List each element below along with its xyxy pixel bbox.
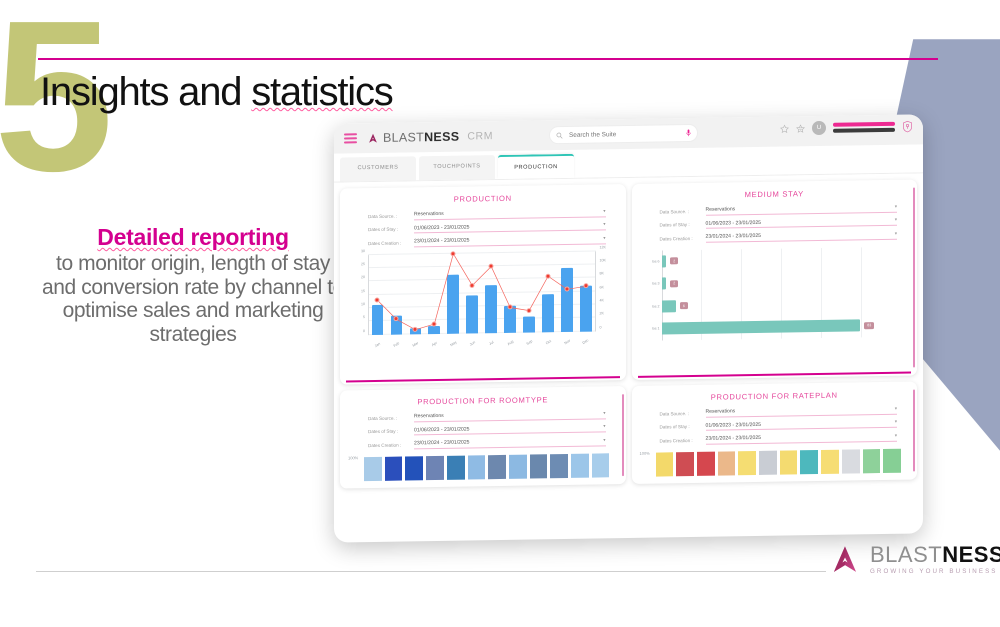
filter-dates-creation[interactable]: Dates Creation : 23/01/2024 - 23/01/2025… bbox=[368, 437, 606, 449]
bar-column bbox=[364, 456, 382, 480]
filter-label: Dates of Stay : bbox=[368, 429, 414, 435]
bar-column bbox=[426, 455, 444, 479]
y-tick-left: 20 bbox=[350, 275, 365, 279]
bar-segment bbox=[842, 449, 860, 473]
filter-dates-of-stay[interactable]: Dates of Stay : 01/06/2023 - 23/01/2025 … bbox=[368, 222, 606, 234]
bar-segment bbox=[656, 452, 674, 476]
bar-column bbox=[550, 453, 568, 477]
filter-dates-creation[interactable]: Dates Creation : 23/01/2024 - 23/01/2025… bbox=[660, 433, 898, 445]
panel-title: MEDIUM STAY bbox=[638, 188, 912, 201]
panel-title: PRODUCTION FOR RATEPLAN bbox=[638, 390, 912, 403]
bar bbox=[662, 278, 667, 290]
filter-value: 23/01/2024 - 23/01/2025 bbox=[706, 435, 762, 442]
filter-label: Data Source. : bbox=[660, 209, 706, 215]
rateplan-chart: 100% bbox=[638, 446, 912, 476]
brand-tagline: GROWING YOUR BUSINESS bbox=[870, 569, 1000, 575]
chart-x-labels: JanFebMarAprMayJunJulAugSepOctNovDec bbox=[368, 339, 596, 347]
chevron-down-icon: ▾ bbox=[603, 209, 605, 214]
star-outline-icon[interactable] bbox=[780, 124, 789, 133]
panel-side-rule bbox=[913, 389, 915, 471]
filter-value: 23/01/2024 - 23/01/2025 bbox=[414, 439, 470, 446]
filter-data-source[interactable]: Data Source. : Reservations ▾ bbox=[368, 208, 606, 220]
chevron-down-icon: ▾ bbox=[603, 425, 605, 430]
bar-value-badge: 2 bbox=[670, 257, 678, 264]
chart-plot-area: los 62los 32los 26los 183 bbox=[662, 246, 902, 340]
filter-dates-of-stay[interactable]: Dates of Stay : 01/06/2023 - 23/01/2025 … bbox=[660, 217, 898, 229]
tab-production[interactable]: PRODUCTION bbox=[498, 154, 574, 179]
x-tick-label: Oct bbox=[539, 335, 557, 349]
filter-control[interactable]: Reservations ▾ bbox=[414, 208, 606, 220]
filter-label: Dates of Stay : bbox=[660, 424, 706, 430]
y-tick-left: 5 bbox=[350, 315, 365, 319]
line-marker bbox=[546, 273, 551, 278]
bar-segment bbox=[385, 456, 403, 480]
filter-value: Reservations bbox=[706, 408, 736, 414]
panel-accent-rule bbox=[346, 377, 620, 383]
bar-column bbox=[780, 450, 798, 474]
bar-segment bbox=[447, 455, 465, 479]
filter-control[interactable]: 01/06/2023 - 23/01/2025 ▾ bbox=[706, 419, 898, 431]
brand-name-bold: NESS bbox=[942, 542, 1000, 567]
filter-value: 23/01/2024 - 23/01/2025 bbox=[414, 237, 470, 244]
bar-column bbox=[697, 451, 715, 475]
filter-control[interactable]: 01/06/2023 - 23/01/2025 ▾ bbox=[706, 217, 898, 229]
x-tick-label: Dec bbox=[577, 334, 595, 348]
bar-segment bbox=[821, 449, 839, 473]
y-tick-left: 10 bbox=[350, 302, 365, 306]
chevron-down-icon: ▾ bbox=[895, 218, 897, 223]
bar-segment bbox=[468, 455, 486, 479]
app-logo-light: BLAST bbox=[383, 130, 424, 145]
line-marker bbox=[451, 251, 456, 256]
user-name-redacted bbox=[833, 122, 895, 133]
filter-label: Dates Creation : bbox=[368, 240, 414, 246]
filter-dates-creation[interactable]: Dates Creation : 23/01/2024 - 23/01/2025… bbox=[368, 235, 606, 247]
filter-data-source[interactable]: Data Source. : Reservations ▾ bbox=[660, 406, 898, 418]
app-product-label: CRM bbox=[467, 130, 493, 142]
bar-column bbox=[676, 451, 694, 475]
bar-column bbox=[468, 455, 486, 479]
y-tick-label: los 3 bbox=[642, 282, 660, 286]
filter-dates-creation[interactable]: Dates Creation : 23/01/2024 - 23/01/2025… bbox=[660, 231, 898, 243]
blastness-triangle-icon bbox=[828, 545, 862, 575]
x-tick-label: Nov bbox=[558, 335, 576, 349]
line-marker bbox=[584, 283, 589, 288]
bar-segment bbox=[530, 454, 548, 478]
x-tick-label: May bbox=[444, 336, 462, 350]
page-title: Insights and statistics bbox=[40, 70, 393, 115]
line-marker bbox=[375, 297, 380, 302]
filter-control[interactable]: 23/01/2024 - 23/01/2025 ▾ bbox=[706, 433, 898, 445]
filters: Data Source. : Reservations ▾ Dates of S… bbox=[638, 406, 912, 446]
bar-column bbox=[821, 449, 839, 473]
chevron-down-icon: ▾ bbox=[895, 420, 897, 425]
bar-segment bbox=[364, 456, 382, 480]
bar-segment bbox=[718, 451, 736, 475]
search-input[interactable] bbox=[567, 129, 682, 140]
y-tick-label: los 1 bbox=[642, 327, 660, 331]
bar-segment bbox=[697, 451, 715, 475]
bar-column bbox=[718, 451, 736, 475]
filter-value: Reservations bbox=[706, 206, 736, 212]
y-tick-left: 30 bbox=[350, 249, 365, 253]
filter-label: Dates Creation : bbox=[660, 438, 706, 444]
chevron-down-icon: ▾ bbox=[895, 204, 897, 209]
tab-touchpoints[interactable]: TOUCHPOINTS bbox=[419, 155, 495, 180]
x-tick-label: Mar bbox=[406, 337, 424, 351]
filter-value: Reservations bbox=[414, 211, 444, 217]
topbar-actions: U bbox=[780, 120, 913, 136]
brand-name-light: BLAST bbox=[870, 542, 942, 567]
x-tick-label: Feb bbox=[387, 337, 405, 351]
footer-brand: BLASTNESS GROWING YOUR BUSINESS bbox=[828, 544, 1000, 575]
filter-control[interactable]: Reservations ▾ bbox=[706, 204, 898, 216]
avatar[interactable]: U bbox=[812, 121, 826, 135]
bar-column bbox=[759, 450, 777, 474]
filter-dates-of-stay[interactable]: Dates of Stay : 01/06/2023 - 23/01/2025 … bbox=[368, 424, 606, 436]
bar-value-badge: 6 bbox=[680, 302, 688, 309]
app-logo: BLASTNESS CRM bbox=[367, 129, 493, 145]
filter-control[interactable]: 23/01/2024 - 23/01/2025 ▾ bbox=[414, 235, 606, 247]
bar-value-badge: 83 bbox=[864, 322, 874, 329]
panel-title: PRODUCTION FOR ROOMTYPE bbox=[346, 394, 620, 407]
panel-accent-rule bbox=[638, 372, 912, 378]
line-markers bbox=[368, 251, 596, 335]
filter-control[interactable]: Reservations ▾ bbox=[414, 410, 606, 422]
filters: Data Source. : Reservations ▾ Dates of S… bbox=[346, 410, 620, 450]
panel-production-roomtype: PRODUCTION FOR ROOMTYPE Data Source. : R… bbox=[340, 386, 626, 488]
chart-plot-area bbox=[368, 251, 596, 335]
y-tick-left: 0 bbox=[350, 329, 365, 333]
line-marker bbox=[489, 263, 494, 268]
chart-plot-area bbox=[364, 453, 610, 481]
y-tick-right: 2K bbox=[600, 311, 616, 315]
bar-column bbox=[385, 456, 403, 480]
panel-side-rule bbox=[913, 187, 915, 367]
bar bbox=[662, 255, 667, 267]
line-marker bbox=[565, 286, 570, 291]
filter-value: 01/06/2023 - 23/01/2025 bbox=[706, 421, 762, 428]
bar-column bbox=[530, 454, 548, 478]
bar-column bbox=[447, 455, 465, 479]
x-tick-label: Jun bbox=[463, 336, 481, 350]
filter-data-source[interactable]: Data Source. : Reservations ▾ bbox=[660, 204, 898, 216]
bar bbox=[662, 300, 676, 312]
filters: Data Source. : Reservations ▾ Dates of S… bbox=[346, 208, 620, 248]
chevron-down-icon: ▾ bbox=[895, 406, 897, 411]
filter-value: 01/06/2023 - 23/01/2025 bbox=[414, 224, 470, 231]
panel-production-rateplan: PRODUCTION FOR RATEPLAN Data Source. : R… bbox=[632, 381, 918, 483]
microphone-icon[interactable] bbox=[686, 129, 691, 137]
copy-lead: Detailed reporting bbox=[38, 224, 348, 250]
bar-column bbox=[592, 453, 610, 477]
chart-plot-area bbox=[656, 448, 902, 476]
filter-label: Dates of Stay : bbox=[660, 222, 706, 228]
search-bar[interactable] bbox=[549, 124, 698, 144]
bar-column bbox=[571, 453, 589, 477]
bar-segment bbox=[738, 450, 756, 474]
brand-name: BLASTNESS bbox=[870, 544, 1000, 566]
blastness-triangle-icon bbox=[367, 132, 379, 143]
y-tick-right: 12K bbox=[600, 245, 616, 249]
bar-column bbox=[863, 449, 881, 473]
bar-column bbox=[405, 456, 423, 480]
footer-divider bbox=[36, 571, 826, 572]
app-logo-text: BLASTNESS bbox=[383, 130, 459, 145]
bar-segment bbox=[759, 450, 777, 474]
bar-column bbox=[656, 452, 674, 476]
y-tick-right: 8K bbox=[600, 271, 616, 275]
bar-column bbox=[509, 454, 527, 478]
bar-column bbox=[738, 450, 756, 474]
app-logo-bold: NESS bbox=[424, 130, 459, 145]
filter-value: Reservations bbox=[414, 413, 444, 419]
bar-column bbox=[800, 450, 818, 474]
roomtype-chart: 100% bbox=[346, 451, 620, 481]
star-lines-icon[interactable] bbox=[796, 124, 805, 133]
filter-label: Data Source. : bbox=[368, 213, 414, 219]
filter-control[interactable]: 23/01/2024 - 23/01/2025 ▾ bbox=[414, 437, 606, 449]
y-tick-right: 4K bbox=[600, 298, 616, 302]
bar bbox=[662, 320, 861, 335]
filter-label: Dates Creation : bbox=[368, 442, 414, 448]
filter-control[interactable]: Reservations ▾ bbox=[706, 406, 898, 418]
x-tick-label: Aug bbox=[501, 336, 519, 350]
filter-label: Dates of Stay : bbox=[368, 227, 414, 233]
bar-column bbox=[842, 449, 860, 473]
chevron-down-icon: ▾ bbox=[603, 236, 605, 241]
y-tick-label: los 2 bbox=[642, 304, 660, 308]
hamburger-icon[interactable] bbox=[344, 133, 357, 143]
y-tick-right: 0 bbox=[600, 325, 616, 329]
shield-key-icon[interactable] bbox=[902, 121, 913, 133]
page-title-emphasis: statistics bbox=[251, 70, 392, 114]
y-tick-left: 15 bbox=[350, 289, 365, 293]
filter-value: 01/06/2023 - 23/01/2025 bbox=[414, 426, 470, 433]
bar-value-badge: 2 bbox=[670, 280, 678, 287]
filter-label: Dates Creation : bbox=[660, 236, 706, 242]
y-tick-label: los 6 bbox=[642, 259, 660, 263]
chevron-down-icon: ▾ bbox=[603, 438, 605, 443]
bar-row: los 183 bbox=[662, 314, 902, 340]
filters: Data Source. : Reservations ▾ Dates of S… bbox=[638, 204, 912, 244]
bar-segment bbox=[426, 455, 444, 479]
filter-value: 23/01/2024 - 23/01/2025 bbox=[706, 233, 762, 240]
filter-dates-of-stay[interactable]: Dates of Stay : 01/06/2023 - 23/01/2025 … bbox=[660, 419, 898, 431]
line-marker bbox=[413, 327, 418, 332]
line-marker bbox=[508, 304, 513, 309]
bar-column bbox=[488, 454, 506, 478]
search-icon bbox=[556, 132, 563, 139]
page-title-plain: Insights and bbox=[40, 70, 251, 114]
panel-production: PRODUCTION Data Source. : Reservations ▾… bbox=[340, 184, 626, 384]
filter-value: 01/06/2023 - 23/01/2025 bbox=[706, 219, 762, 226]
y-tick-left: 25 bbox=[350, 262, 365, 266]
dashboard-grid: PRODUCTION Data Source. : Reservations ▾… bbox=[334, 173, 923, 494]
filter-data-source[interactable]: Data Source. : Reservations ▾ bbox=[368, 410, 606, 422]
title-rule bbox=[38, 58, 938, 60]
chevron-down-icon: ▾ bbox=[603, 411, 605, 416]
bar-segment bbox=[550, 453, 568, 477]
panel-title: PRODUCTION bbox=[346, 192, 620, 205]
chart-y-label: 100% bbox=[640, 450, 650, 455]
bar-segment bbox=[780, 450, 798, 474]
x-tick-label: Sep bbox=[520, 335, 538, 349]
panel-side-rule bbox=[622, 394, 624, 476]
bar-segment bbox=[509, 454, 527, 478]
bar-segment bbox=[883, 448, 901, 472]
y-tick-right: 6K bbox=[600, 285, 616, 289]
line-marker bbox=[432, 321, 437, 326]
bar-segment bbox=[863, 449, 881, 473]
chevron-down-icon: ▾ bbox=[603, 223, 605, 228]
bar-segment bbox=[676, 451, 694, 475]
copy-body: to monitor origin, length of stay and co… bbox=[38, 252, 348, 346]
copy-block: Detailed reporting to monitor origin, le… bbox=[38, 224, 348, 346]
panel-medium-stay: MEDIUM STAY Data Source. : Reservations … bbox=[632, 179, 918, 379]
tab-customers[interactable]: CUSTOMERS bbox=[340, 156, 416, 181]
filter-label: Data Source. : bbox=[368, 415, 414, 421]
filter-label: Data Source. : bbox=[660, 411, 706, 417]
x-tick-label: Jan bbox=[368, 338, 386, 352]
chevron-down-icon: ▾ bbox=[895, 231, 897, 236]
medium-stay-chart: los 62los 32los 26los 183 bbox=[640, 244, 910, 344]
y-tick-right: 10K bbox=[600, 258, 616, 262]
bar-segment bbox=[592, 453, 610, 477]
filter-control[interactable]: 01/06/2023 - 23/01/2025 ▾ bbox=[414, 222, 606, 234]
bar-segment bbox=[571, 453, 589, 477]
app-window: BLASTNESS CRM U bbox=[334, 114, 923, 542]
production-chart: JanFebMarAprMayJunJulAugSepOctNovDec 051… bbox=[348, 249, 618, 349]
x-tick-label: Jul bbox=[482, 336, 500, 350]
bar-segment bbox=[405, 456, 423, 480]
line-marker bbox=[470, 282, 475, 287]
filter-control[interactable]: 01/06/2023 - 23/01/2025 ▾ bbox=[414, 424, 606, 436]
bar-segment bbox=[800, 450, 818, 474]
line-marker bbox=[527, 308, 532, 313]
filter-control[interactable]: 23/01/2024 - 23/01/2025 ▾ bbox=[706, 231, 898, 243]
x-tick-label: Apr bbox=[425, 337, 443, 351]
chart-y-label: 100% bbox=[348, 455, 358, 460]
bar-segment bbox=[488, 454, 506, 478]
chevron-down-icon: ▾ bbox=[895, 433, 897, 438]
line-marker bbox=[394, 316, 399, 321]
bar-column bbox=[883, 448, 901, 472]
